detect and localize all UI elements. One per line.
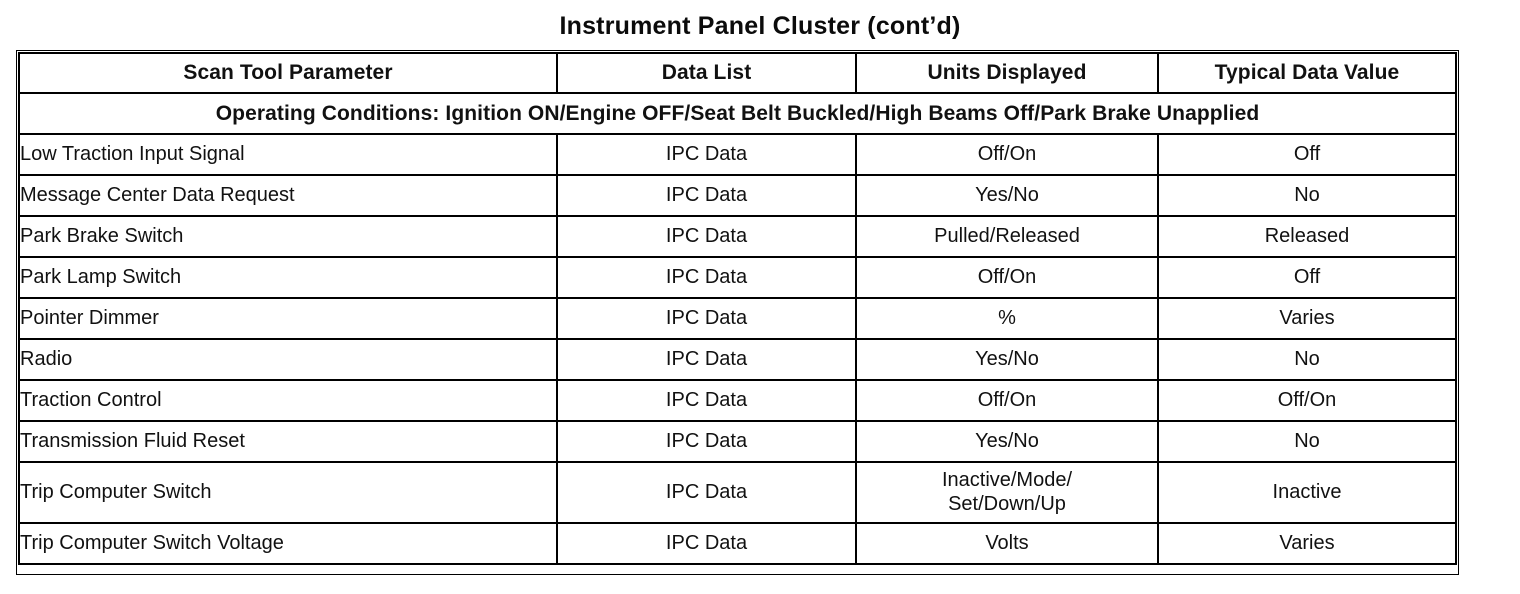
cell-units: Off/On	[856, 134, 1158, 175]
cell-data-list: IPC Data	[557, 523, 856, 564]
cell-data-list: IPC Data	[557, 339, 856, 380]
page-title: Instrument Panel Cluster (cont’d)	[0, 12, 1520, 41]
table-row: Low Traction Input Signal IPC Data Off/O…	[19, 134, 1456, 175]
table-row: Pointer Dimmer IPC Data % Varies	[19, 298, 1456, 339]
cell-typical-value: Released	[1158, 216, 1456, 257]
table-row: Traction Control IPC Data Off/On Off/On	[19, 380, 1456, 421]
cell-units: Off/On	[856, 257, 1158, 298]
cell-typical-value: Off	[1158, 257, 1456, 298]
cell-parameter: Trip Computer Switch	[19, 462, 557, 523]
cell-units: Pulled/Released	[856, 216, 1158, 257]
table-row: Park Brake Switch IPC Data Pulled/Releas…	[19, 216, 1456, 257]
column-header-typical-data-value: Typical Data Value	[1158, 53, 1456, 93]
cell-parameter: Traction Control	[19, 380, 557, 421]
cell-units: Yes/No	[856, 421, 1158, 462]
spec-table-container: Scan Tool Parameter Data List Units Disp…	[18, 52, 1455, 565]
table-row: Transmission Fluid Reset IPC Data Yes/No…	[19, 421, 1456, 462]
cell-typical-value: Varies	[1158, 298, 1456, 339]
cell-typical-value: Off	[1158, 134, 1456, 175]
cell-data-list: IPC Data	[557, 421, 856, 462]
table-row: Park Lamp Switch IPC Data Off/On Off	[19, 257, 1456, 298]
instrument-panel-cluster-table: Scan Tool Parameter Data List Units Disp…	[18, 52, 1457, 565]
table-body: Operating Conditions: Ignition ON/Engine…	[19, 93, 1456, 564]
cell-units: Yes/No	[856, 339, 1158, 380]
cell-typical-value: Off/On	[1158, 380, 1456, 421]
cell-parameter: Pointer Dimmer	[19, 298, 557, 339]
cell-data-list: IPC Data	[557, 298, 856, 339]
column-header-units-displayed: Units Displayed	[856, 53, 1158, 93]
cell-units-line-2: Set/Down/Up	[857, 493, 1157, 517]
table-row: Trip Computer Switch IPC Data Inactive/M…	[19, 462, 1456, 523]
cell-parameter: Trip Computer Switch Voltage	[19, 523, 557, 564]
cell-units: Yes/No	[856, 175, 1158, 216]
table-row: Radio IPC Data Yes/No No	[19, 339, 1456, 380]
cell-typical-value: Inactive	[1158, 462, 1456, 523]
cell-parameter: Park Brake Switch	[19, 216, 557, 257]
cell-units: Inactive/Mode/ Set/Down/Up	[856, 462, 1158, 523]
cell-parameter: Park Lamp Switch	[19, 257, 557, 298]
operating-conditions-text: Operating Conditions: Ignition ON/Engine…	[19, 93, 1456, 134]
cell-units: Volts	[856, 523, 1158, 564]
column-header-data-list: Data List	[557, 53, 856, 93]
cell-data-list: IPC Data	[557, 257, 856, 298]
table-header-row: Scan Tool Parameter Data List Units Disp…	[19, 53, 1456, 93]
cell-parameter: Message Center Data Request	[19, 175, 557, 216]
cell-parameter: Transmission Fluid Reset	[19, 421, 557, 462]
cell-typical-value: No	[1158, 175, 1456, 216]
cell-units-line-1: Inactive/Mode/	[857, 469, 1157, 493]
document-page: Instrument Panel Cluster (cont’d) Scan T…	[0, 0, 1520, 594]
cell-data-list: IPC Data	[557, 462, 856, 523]
cell-typical-value: No	[1158, 339, 1456, 380]
cell-data-list: IPC Data	[557, 380, 856, 421]
table-row: Trip Computer Switch Voltage IPC Data Vo…	[19, 523, 1456, 564]
operating-conditions-row: Operating Conditions: Ignition ON/Engine…	[19, 93, 1456, 134]
cell-units: %	[856, 298, 1158, 339]
cell-data-list: IPC Data	[557, 175, 856, 216]
cell-units: Off/On	[856, 380, 1158, 421]
cell-data-list: IPC Data	[557, 216, 856, 257]
cell-data-list: IPC Data	[557, 134, 856, 175]
cell-parameter: Radio	[19, 339, 557, 380]
column-header-scan-tool-parameter: Scan Tool Parameter	[19, 53, 557, 93]
cell-typical-value: No	[1158, 421, 1456, 462]
table-header: Scan Tool Parameter Data List Units Disp…	[19, 53, 1456, 93]
cell-parameter: Low Traction Input Signal	[19, 134, 557, 175]
table-row: Message Center Data Request IPC Data Yes…	[19, 175, 1456, 216]
cell-typical-value: Varies	[1158, 523, 1456, 564]
